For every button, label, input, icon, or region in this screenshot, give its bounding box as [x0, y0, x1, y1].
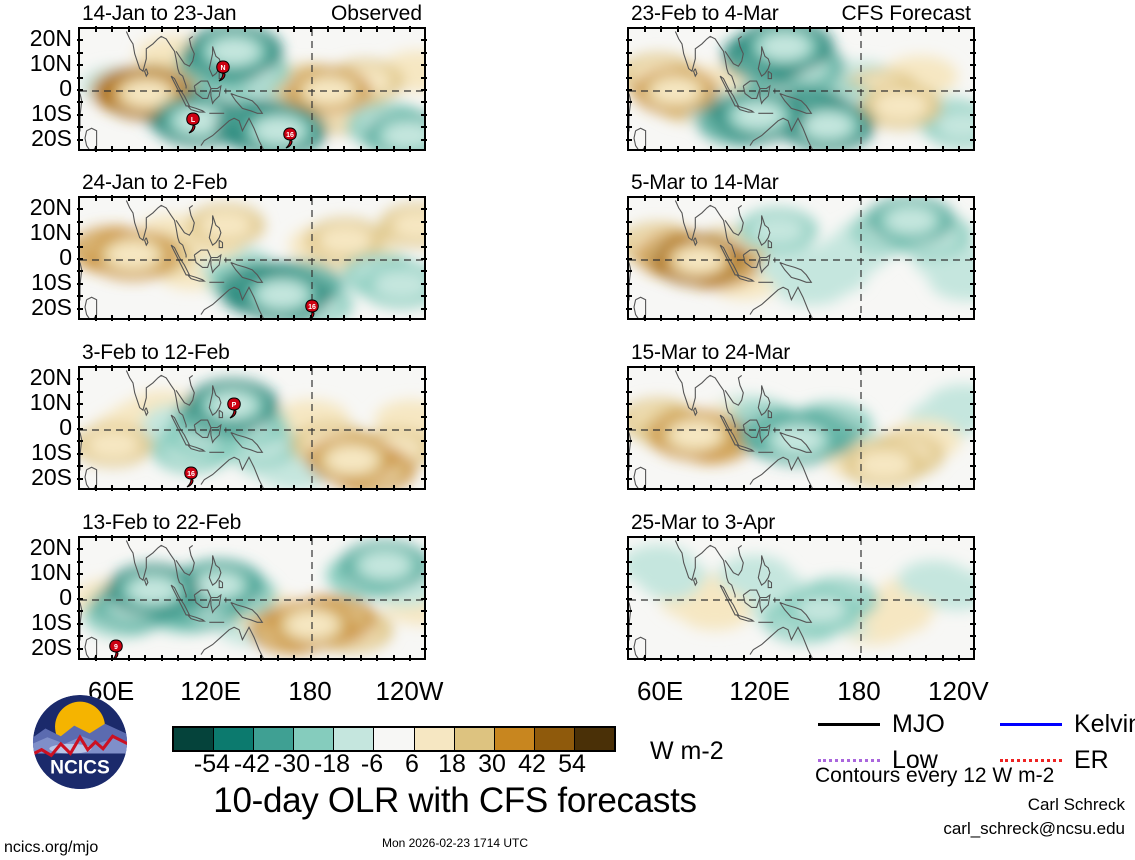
x-tick-top — [925, 26, 927, 32]
x-tick — [277, 485, 279, 491]
x-tick-top — [842, 535, 844, 541]
x-tick — [942, 655, 944, 661]
x-tick — [958, 146, 960, 152]
y-tick — [626, 208, 632, 210]
x-tick — [925, 655, 927, 661]
y-axis-label: 10N — [2, 221, 72, 244]
x-tick — [693, 315, 695, 321]
x-tick — [260, 655, 262, 661]
x-tick-top — [177, 365, 179, 371]
panel-title-fcst-1: 23-Feb to 4-Mar — [631, 3, 779, 24]
y-tick — [626, 89, 632, 91]
y-tick — [77, 610, 83, 612]
x-tick-top — [343, 535, 345, 541]
x-tick — [376, 485, 378, 491]
y-tick — [626, 440, 632, 442]
y-tick — [77, 295, 83, 297]
x-tick — [343, 146, 345, 152]
x-tick — [644, 485, 646, 491]
y-tick-right — [421, 295, 427, 297]
x-tick-top — [726, 195, 728, 201]
panel-title-obs-3: 3-Feb to 12-Feb — [82, 342, 230, 363]
x-tick — [310, 655, 312, 661]
x-tick-top — [826, 535, 828, 541]
svg-text:16: 16 — [287, 132, 295, 139]
panel-fcst-3 — [627, 366, 975, 490]
x-tick-top — [310, 535, 312, 541]
y-tick — [626, 623, 632, 625]
x-tick-top — [660, 195, 662, 201]
x-tick-top — [144, 195, 146, 201]
y-axis-label: 0 — [2, 416, 72, 439]
plot-area-fcst-2 — [627, 196, 975, 320]
y-tick-right — [421, 635, 427, 637]
y-tick — [77, 270, 83, 272]
x-tick-top — [842, 26, 844, 32]
x-tick — [327, 315, 329, 321]
x-tick — [95, 146, 97, 152]
x-tick-top — [128, 535, 130, 541]
x-tick — [710, 655, 712, 661]
legend-label: Kelvin x2 — [1074, 712, 1135, 737]
x-tick — [710, 315, 712, 321]
y-tick-right — [421, 39, 427, 41]
storm-marker: 9 — [107, 639, 125, 660]
x-tick — [244, 485, 246, 491]
y-axis-label: 10N — [2, 391, 72, 414]
x-tick-top — [409, 365, 411, 371]
storm-marker: 16 — [281, 127, 299, 149]
x-tick-top — [376, 365, 378, 371]
x-tick — [876, 485, 878, 491]
x-tick — [409, 485, 411, 491]
x-tick — [892, 485, 894, 491]
x-tick — [128, 315, 130, 321]
x-tick-top — [293, 535, 295, 541]
x-axis-label: 120E — [180, 678, 241, 704]
x-tick — [244, 146, 246, 152]
y-tick-right — [421, 208, 427, 210]
x-axis-label: 120E — [729, 678, 790, 704]
x-tick-top — [244, 365, 246, 371]
x-tick — [161, 315, 163, 321]
legend-item-kelvin-x2: Kelvin x2 — [1000, 712, 1135, 737]
x-tick — [177, 485, 179, 491]
y-tick-right — [970, 586, 976, 588]
x-tick — [310, 485, 312, 491]
x-tick-top — [809, 535, 811, 541]
panel-obs-4: 9 — [78, 536, 426, 660]
y-tick-right — [421, 114, 427, 116]
y-tick-right — [421, 561, 427, 563]
x-tick-top — [177, 535, 179, 541]
x-tick — [144, 146, 146, 152]
x-tick-top — [892, 535, 894, 541]
x-tick-top — [393, 26, 395, 32]
y-tick-right — [421, 598, 427, 600]
svg-text:L: L — [191, 117, 196, 124]
x-axis-label: 180 — [837, 678, 880, 704]
y-tick — [77, 89, 83, 91]
x-tick — [743, 655, 745, 661]
y-tick — [626, 561, 632, 563]
olr-forecast-figure: NL1614-Jan to 23-JanObserved20N10N010S20… — [0, 0, 1135, 860]
x-tick — [376, 655, 378, 661]
colorbar-segment — [575, 728, 614, 750]
x-tick — [942, 315, 944, 321]
y-tick — [77, 403, 83, 405]
y-tick-right — [970, 114, 976, 116]
y-axis-label: 20S — [2, 466, 72, 489]
y-tick — [77, 573, 83, 575]
x-tick-top — [693, 26, 695, 32]
x-tick — [793, 315, 795, 321]
x-tick-top — [194, 365, 196, 371]
storm-marker: 16 — [303, 299, 321, 320]
y-tick — [77, 453, 83, 455]
x-tick-top — [909, 195, 911, 201]
olr-anomaly-field — [629, 538, 975, 660]
x-tick — [677, 146, 679, 152]
y-axis-label: 0 — [2, 246, 72, 269]
y-tick — [626, 416, 632, 418]
y-axis-label: 0 — [2, 586, 72, 609]
y-tick — [626, 52, 632, 54]
y-tick-right — [421, 586, 427, 588]
plot-area-obs-1: NL16 — [78, 27, 426, 151]
x-tick — [260, 315, 262, 321]
x-tick — [95, 655, 97, 661]
x-tick-top — [95, 535, 97, 541]
colorbar-segment — [214, 728, 254, 750]
y-tick — [77, 52, 83, 54]
x-tick-top — [892, 195, 894, 201]
x-tick — [776, 655, 778, 661]
y-tick-right — [421, 610, 427, 612]
x-tick-top — [128, 365, 130, 371]
y-tick-right — [970, 89, 976, 91]
x-tick — [260, 146, 262, 152]
plot-area-obs-4: 9 — [78, 536, 426, 660]
x-tick — [360, 315, 362, 321]
x-tick-top — [644, 195, 646, 201]
author-name: Carl Schreck — [1028, 796, 1125, 813]
y-tick-right — [970, 416, 976, 418]
generated-timestamp: Mon 2026-02-23 1714 UTC — [175, 837, 735, 849]
x-tick-top — [793, 195, 795, 201]
x-tick — [343, 315, 345, 321]
y-tick-right — [421, 126, 427, 128]
x-tick — [128, 485, 130, 491]
x-tick — [743, 315, 745, 321]
y-tick — [626, 478, 632, 480]
panel-title-obs-1: 14-Jan to 23-Jan — [82, 3, 236, 24]
x-tick — [310, 315, 312, 321]
x-axis-label: 60E — [637, 678, 683, 704]
olr-anomaly-field — [80, 538, 426, 660]
y-tick — [77, 77, 83, 79]
x-tick — [227, 315, 229, 321]
x-tick-top — [726, 365, 728, 371]
x-tick — [826, 315, 828, 321]
y-tick — [626, 586, 632, 588]
y-tick-right — [970, 101, 976, 103]
contour-note: Contours every 12 W m-2 — [815, 765, 1054, 786]
y-tick-right — [421, 283, 427, 285]
y-axis-label: 10N — [2, 561, 72, 584]
x-tick-top — [244, 195, 246, 201]
x-tick-top — [726, 26, 728, 32]
storm-marker: N — [214, 60, 232, 82]
logo-text: NCICS — [50, 758, 110, 779]
x-tick — [876, 146, 878, 152]
y-tick — [77, 114, 83, 116]
x-tick-top — [144, 535, 146, 541]
x-tick — [776, 146, 778, 152]
x-tick-top — [693, 365, 695, 371]
legend-line-swatch — [818, 723, 880, 726]
x-tick-top — [194, 535, 196, 541]
colorbar-segment — [374, 728, 414, 750]
y-tick-right — [970, 548, 976, 550]
x-tick-top — [876, 195, 878, 201]
legend-line-swatch — [1000, 759, 1062, 762]
x-tick-top — [161, 26, 163, 32]
y-tick — [626, 548, 632, 550]
y-tick-right — [421, 465, 427, 467]
y-tick-right — [970, 610, 976, 612]
x-tick-top — [211, 195, 213, 201]
x-tick-top — [876, 26, 878, 32]
x-tick-top — [393, 195, 395, 201]
x-tick-top — [958, 365, 960, 371]
x-tick — [958, 315, 960, 321]
ncics-logo: NCICS — [32, 694, 128, 790]
y-tick-right — [970, 258, 976, 260]
x-tick-top — [227, 26, 229, 32]
x-tick — [393, 146, 395, 152]
y-tick-right — [970, 428, 976, 430]
x-tick — [760, 655, 762, 661]
olr-anomaly-field — [629, 29, 975, 151]
plot-area-obs-2: 16 — [78, 196, 426, 320]
x-tick-top — [343, 26, 345, 32]
y-tick-right — [421, 270, 427, 272]
x-tick-top — [809, 195, 811, 201]
x-tick — [842, 146, 844, 152]
x-tick — [660, 655, 662, 661]
x-tick-top — [327, 535, 329, 541]
y-tick-right — [970, 126, 976, 128]
x-tick-top — [277, 535, 279, 541]
x-tick — [925, 315, 927, 321]
x-tick-top — [244, 26, 246, 32]
y-tick-right — [970, 283, 976, 285]
x-tick — [194, 146, 196, 152]
y-tick-right — [421, 101, 427, 103]
x-tick — [677, 655, 679, 661]
y-tick-right — [421, 648, 427, 650]
x-tick-top — [95, 195, 97, 201]
x-tick — [826, 655, 828, 661]
panel-obs-3: P16 — [78, 366, 426, 490]
x-tick — [128, 655, 130, 661]
x-tick — [842, 315, 844, 321]
x-tick-top — [909, 535, 911, 541]
y-tick — [626, 403, 632, 405]
x-tick — [958, 655, 960, 661]
y-tick — [626, 378, 632, 380]
x-tick-top — [111, 195, 113, 201]
x-tick-top — [677, 195, 679, 201]
x-tick — [393, 315, 395, 321]
legend-item-mjo: MJO — [818, 712, 945, 737]
x-tick — [644, 315, 646, 321]
x-tick — [809, 146, 811, 152]
x-tick — [293, 315, 295, 321]
x-tick — [776, 485, 778, 491]
colorbar-segment — [415, 728, 455, 750]
x-tick-top — [194, 195, 196, 201]
x-tick-top — [760, 535, 762, 541]
x-tick — [211, 485, 213, 491]
y-tick-right — [421, 391, 427, 393]
x-tick-top — [892, 26, 894, 32]
svg-text:16: 16 — [308, 304, 316, 311]
y-tick — [77, 64, 83, 66]
x-tick-top — [925, 535, 927, 541]
x-tick-top — [244, 535, 246, 541]
y-tick-right — [421, 623, 427, 625]
y-tick — [77, 598, 83, 600]
y-tick — [77, 561, 83, 563]
x-tick — [743, 146, 745, 152]
x-tick — [144, 485, 146, 491]
y-tick — [77, 258, 83, 260]
y-tick-right — [421, 440, 427, 442]
x-tick-top — [360, 365, 362, 371]
y-tick-right — [421, 89, 427, 91]
svg-text:16: 16 — [187, 471, 195, 478]
x-tick-top — [211, 365, 213, 371]
colorbar-segment — [254, 728, 294, 750]
x-tick-top — [660, 365, 662, 371]
x-tick-top — [942, 535, 944, 541]
y-tick-right — [421, 378, 427, 380]
x-tick — [793, 485, 795, 491]
x-tick-top — [942, 195, 944, 201]
y-axis-label: 10S — [2, 102, 72, 125]
x-tick-top — [360, 26, 362, 32]
y-tick-right — [970, 270, 976, 272]
x-tick-top — [644, 365, 646, 371]
x-tick-top — [128, 195, 130, 201]
x-tick-top — [677, 26, 679, 32]
storm-marker: 16 — [182, 466, 200, 488]
panel-title-fcst-2: 5-Mar to 14-Mar — [631, 172, 779, 193]
x-tick — [760, 146, 762, 152]
x-tick — [826, 146, 828, 152]
colorbar-segment — [535, 728, 575, 750]
x-tick — [293, 146, 295, 152]
panel-fcst-1 — [627, 27, 975, 151]
y-tick — [626, 598, 632, 600]
y-axis-label: 20S — [2, 296, 72, 319]
y-tick — [77, 208, 83, 210]
y-tick-right — [970, 623, 976, 625]
x-tick-top — [376, 195, 378, 201]
y-tick — [626, 139, 632, 141]
colorbar-segment — [174, 728, 214, 750]
x-tick — [909, 146, 911, 152]
x-tick — [111, 655, 113, 661]
x-tick-top — [710, 535, 712, 541]
y-tick-right — [970, 308, 976, 310]
y-tick — [77, 548, 83, 550]
x-tick-top — [809, 365, 811, 371]
x-tick — [144, 655, 146, 661]
x-tick-top — [293, 365, 295, 371]
x-tick-top — [925, 365, 927, 371]
x-tick-top — [227, 365, 229, 371]
x-tick-top — [409, 195, 411, 201]
panel-obs-1: NL16 — [78, 27, 426, 151]
x-tick-top — [677, 365, 679, 371]
y-tick — [626, 453, 632, 455]
x-tick — [644, 655, 646, 661]
x-tick — [660, 315, 662, 321]
colorbar-segment — [294, 728, 334, 750]
x-tick-top — [776, 365, 778, 371]
x-tick — [693, 146, 695, 152]
y-tick — [626, 391, 632, 393]
x-tick — [376, 146, 378, 152]
y-tick — [626, 64, 632, 66]
x-tick — [293, 485, 295, 491]
y-tick-right — [970, 295, 976, 297]
panel-title-fcst-4: 25-Mar to 3-Apr — [631, 512, 775, 533]
x-tick-top — [343, 365, 345, 371]
y-tick — [77, 101, 83, 103]
x-tick — [644, 146, 646, 152]
y-tick-right — [421, 573, 427, 575]
x-tick-top — [743, 535, 745, 541]
x-tick — [909, 655, 911, 661]
x-tick — [892, 315, 894, 321]
y-axis-label: 10S — [2, 271, 72, 294]
y-tick-right — [421, 139, 427, 141]
storm-marker: L — [184, 112, 202, 134]
y-tick — [77, 428, 83, 430]
x-tick — [161, 485, 163, 491]
y-tick-right — [970, 221, 976, 223]
x-tick-top — [161, 535, 163, 541]
panel-title-fcst-3: 15-Mar to 24-Mar — [631, 342, 790, 363]
x-tick — [942, 146, 944, 152]
x-tick-top — [260, 535, 262, 541]
y-tick — [626, 428, 632, 430]
x-tick-top — [710, 26, 712, 32]
x-tick — [710, 485, 712, 491]
x-tick-top — [393, 535, 395, 541]
y-tick-right — [970, 391, 976, 393]
x-tick — [942, 485, 944, 491]
x-tick — [925, 485, 927, 491]
legend-line-swatch — [1000, 723, 1062, 726]
x-tick — [277, 655, 279, 661]
y-tick — [77, 139, 83, 141]
x-tick-top — [327, 365, 329, 371]
